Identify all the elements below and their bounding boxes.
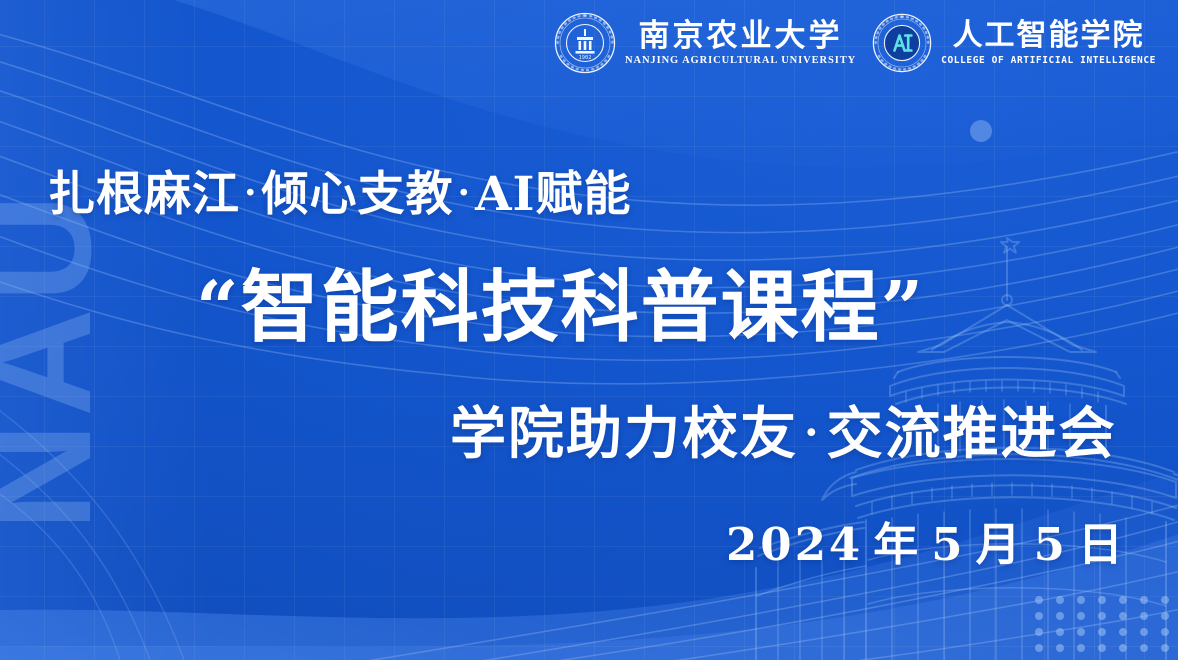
page-title: “智能科技科普课程” <box>196 258 925 359</box>
tagline-part-3: AI赋能 <box>475 167 631 222</box>
date-month-label: 月 <box>976 518 1024 571</box>
title-text: 智能科技科普课程 <box>241 262 881 353</box>
tagline-separator-1: · <box>240 172 262 214</box>
college-seal-icon <box>872 13 932 73</box>
subtitle-part-1: 学院助力校友 <box>450 401 798 467</box>
university-name-cn: 南京农业大学 <box>639 19 843 53</box>
date-year: 2024 <box>726 518 863 571</box>
university-seal-icon: 1902 <box>554 12 616 74</box>
date-day: 5 <box>1034 518 1068 571</box>
college-name-cn: 人工智能学院 <box>953 19 1145 53</box>
subtitle: 学院助力校友·交流推进会 <box>450 398 1117 469</box>
university-logo: 1902 南京农业大学 NANJING AGRICULTURAL UNIVERS… <box>554 12 856 74</box>
seal-year: 1902 <box>578 55 591 61</box>
university-name-en: NANJING AGRICULTURAL UNIVERSITY <box>625 54 856 67</box>
university-logo-text: 南京农业大学 NANJING AGRICULTURAL UNIVERSITY <box>625 19 856 67</box>
college-logo: 人工智能学院 COLLEGE OF ARTIFICIAL INTELLIGENC… <box>872 13 1156 73</box>
title-close-quote: ” <box>881 266 926 352</box>
tagline: 扎根麻江·倾心支教·AI赋能 <box>48 164 632 224</box>
college-name-en: COLLEGE OF ARTIFICIAL INTELLIGENCE <box>941 54 1156 67</box>
date-day-label: 日 <box>1078 518 1126 571</box>
date-month: 5 <box>931 518 965 571</box>
event-date: 2024年5月5日 <box>726 516 1126 574</box>
tagline-part-1: 扎根麻江 <box>48 167 240 222</box>
subtitle-part-2: 交流推进会 <box>827 401 1117 467</box>
tagline-separator-2: · <box>454 172 476 214</box>
subtitle-separator: · <box>798 408 827 457</box>
poster-content: 扎根麻江·倾心支教·AI赋能 “智能科技科普课程” 学院助力校友·交流推进会 2… <box>0 0 1178 660</box>
event-poster: NAU 1902 <box>0 0 1178 660</box>
header-logos: 1902 南京农业大学 NANJING AGRICULTURAL UNIVERS… <box>554 12 1156 74</box>
date-year-label: 年 <box>873 518 921 571</box>
college-logo-text: 人工智能学院 COLLEGE OF ARTIFICIAL INTELLIGENC… <box>941 19 1156 67</box>
title-open-quote: “ <box>196 266 241 352</box>
tagline-part-2: 倾心支教 <box>262 167 454 222</box>
